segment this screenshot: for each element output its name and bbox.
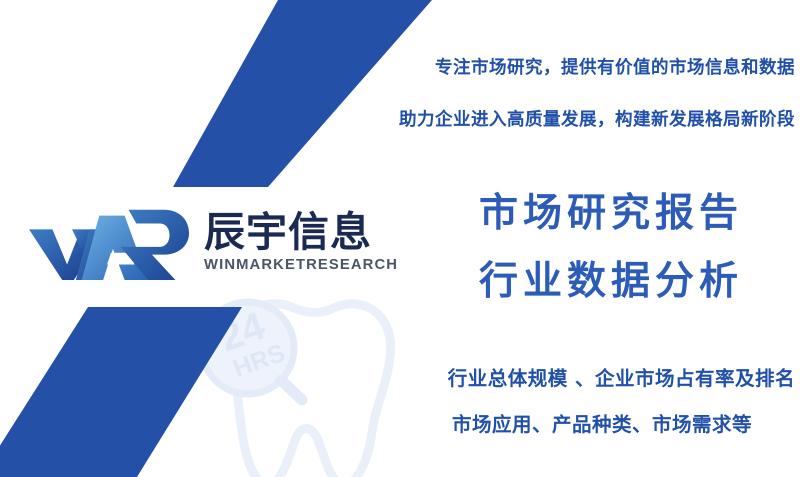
blue-parallelogram-bottom (0, 307, 242, 477)
headline-line-2: 行业数据分析 (479, 250, 743, 306)
wmr-logo-mark (26, 202, 194, 282)
marketing-banner: 24 HRS (0, 0, 801, 477)
logo-company-en: WINMARKETRESEARCH (204, 257, 398, 273)
logo-company-cn: 辰宇信息 (204, 211, 394, 254)
watermark-hrs-label: HRS (230, 339, 289, 383)
tagline-line-2: 助力企业进入高质量发展，构建新发展格局新阶段 (399, 106, 795, 131)
logo-wordmark: 辰宇信息 WINMARKETRESEARCH (204, 211, 394, 273)
headline-line-1: 市场研究报告 (479, 182, 743, 238)
subline-line-2: 市场应用、产品种类、市场需求等 (452, 408, 752, 437)
tagline-line-1: 专注市场研究，提供有价值的市场信息和数据 (435, 54, 795, 79)
tooth-watermark: 24 HRS (198, 292, 408, 477)
subline-line-1: 行业总体规模 、企业市场占有率及排名 (448, 362, 795, 391)
watermark-badge-text: 24 HRS (214, 300, 289, 384)
blue-parallelogram-top (173, 0, 432, 187)
watermark-24-label: 24 (214, 303, 272, 360)
company-logo[interactable]: 辰宇信息 WINMARKETRESEARCH (26, 196, 376, 288)
